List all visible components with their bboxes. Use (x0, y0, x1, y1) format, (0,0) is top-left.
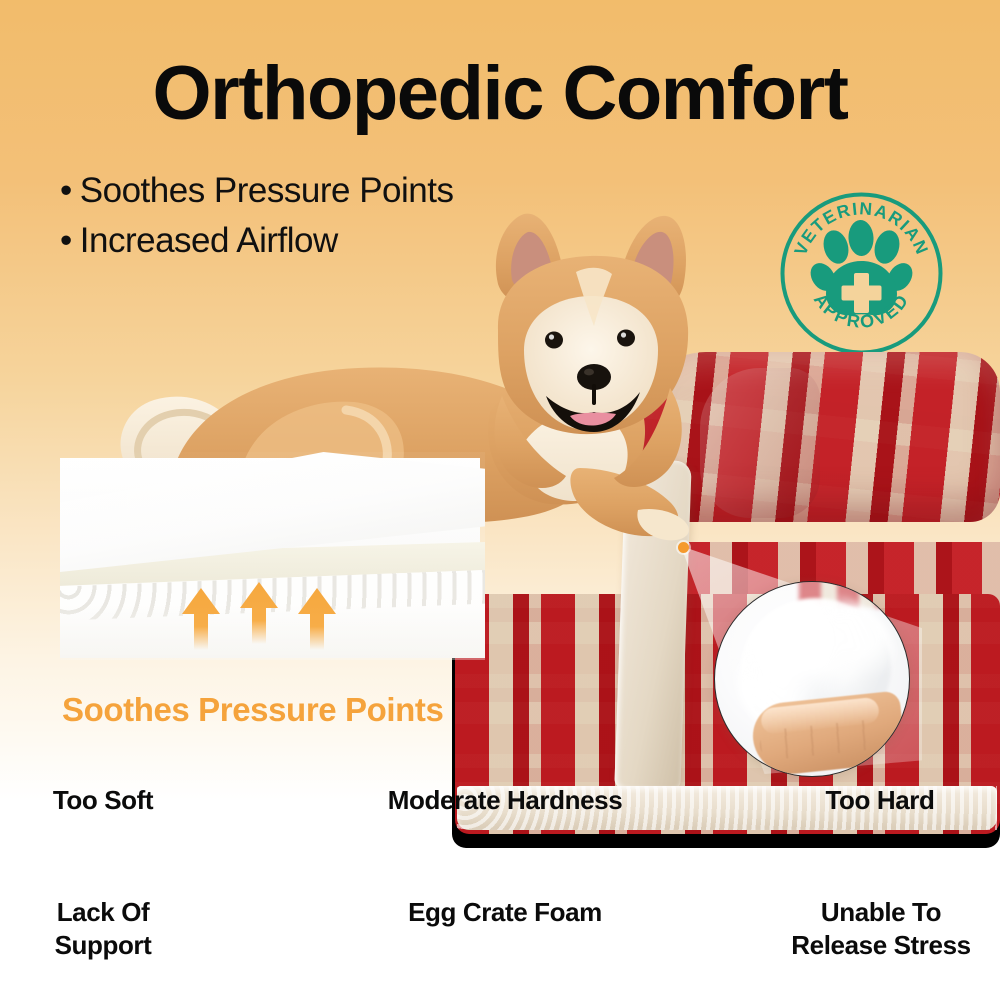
scale-left-bottom-line2: Support (3, 929, 203, 962)
callout-origin-dot (678, 542, 689, 553)
scale-right-bottom-line2: Release Stress (770, 929, 992, 962)
scale-right-bottom-label: Unable To Release Stress (770, 896, 992, 961)
page-title: Orthopedic Comfort (0, 56, 1000, 132)
infographic-canvas: Orthopedic Comfort •Soothes Pressure Poi… (0, 0, 1000, 1000)
scale-left-top-label: Too Soft (3, 785, 203, 816)
scale-right-bottom-line1: Unable To (770, 896, 992, 929)
soothes-pressure-points-caption: Soothes Pressure Points (62, 691, 443, 729)
up-arrow-icon (298, 588, 336, 650)
dog-eye-left (545, 332, 563, 349)
hardness-scale: Too Soft Moderate Hardness Too Hard 1 6.… (0, 780, 1000, 1000)
up-arrow-icon (182, 588, 220, 650)
scale-left-bottom-label: Lack Of Support (3, 896, 203, 961)
dog-eye-right (617, 330, 635, 347)
scale-middle-bottom-label: Egg Crate Foam (355, 896, 655, 929)
scale-middle-top-label: Moderate Hardness (355, 785, 655, 816)
up-arrow-icon (240, 582, 278, 644)
scale-right-top-label: Too Hard (780, 785, 980, 816)
scale-left-bottom-line1: Lack Of (3, 896, 203, 929)
fiber-fill-magnifier-inset (714, 581, 910, 777)
